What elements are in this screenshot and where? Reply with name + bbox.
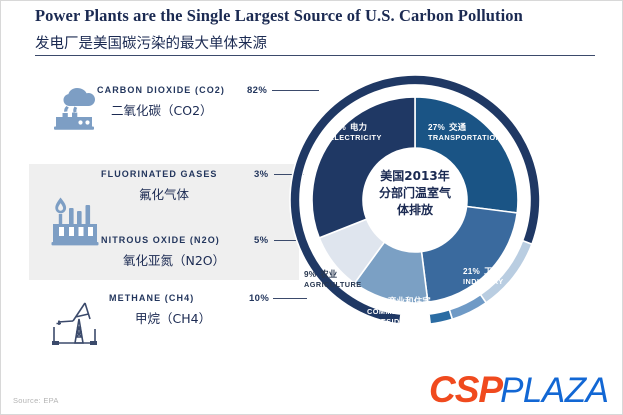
emissions-donut-chart: 31%电力 ELECTRICITY 27%交通 TRANSPORTATION 2… xyxy=(288,73,542,327)
gas-label-cn-co2: 二氧化碳（CO2） xyxy=(111,100,225,119)
gas-label-cn-ch4: 甲烷（CH4） xyxy=(135,308,211,327)
logo-plaza-text: PLAZA xyxy=(500,371,608,410)
gas-label-en-fgas: FLUORINATED GASES xyxy=(101,169,218,179)
gas-percent-fgas: 3% xyxy=(254,169,269,180)
center-line-2: 分部门温室气 xyxy=(360,185,470,202)
gas-ring-fluorinated-gases xyxy=(429,310,452,324)
gas-row-fluorinated: FLUORINATED GASES 氟化气体 xyxy=(101,169,218,203)
factory-smokestack-icon xyxy=(47,84,101,137)
gas-row-n2o: NITROUS OXIDE (N2O) 氧化亚氮（N2O） xyxy=(101,235,225,269)
gas-row-methane: METHANE (CH4) 甲烷（CH4） xyxy=(109,293,211,327)
page-title-cn: 发电厂是美国碳污染的最大单体来源 xyxy=(35,32,595,53)
oil-derrick-icon xyxy=(49,299,101,356)
center-line-3: 体排放 xyxy=(360,202,470,219)
gas-label-cn-n2o: 氧化亚氮（N2O） xyxy=(123,250,225,269)
infographic-canvas: Power Plants are the Single Largest Sour… xyxy=(0,0,623,415)
donut-center-text: 美国2013年 分部门温室气 体排放 xyxy=(360,168,470,219)
gas-percent-co2: 82% xyxy=(247,85,267,96)
gas-label-en-co2: CARBON DIOXIDE (CO2) xyxy=(97,85,225,95)
gas-row-co2: CARBON DIOXIDE (CO2) 二氧化碳（CO2） xyxy=(97,85,225,119)
gas-label-en-ch4: METHANE (CH4) xyxy=(109,293,211,303)
gas-label-en-n2o: NITROUS OXIDE (N2O) xyxy=(101,235,225,245)
source-note: Source: EPA xyxy=(13,396,59,405)
gas-ring-nitrous-oxide-n2o- xyxy=(449,295,486,320)
page-title-en: Power Plants are the Single Largest Sour… xyxy=(35,6,595,26)
csp-plaza-logo: CSPPLAZA xyxy=(429,369,608,411)
industrial-plant-icon xyxy=(49,194,105,255)
gas-label-cn-fgas: 氟化气体 xyxy=(139,184,218,203)
center-line-1: 美国2013年 xyxy=(360,168,470,185)
logo-csp-text: CSP xyxy=(429,369,502,410)
header: Power Plants are the Single Largest Sour… xyxy=(1,1,623,63)
gas-percent-n2o: 5% xyxy=(254,235,269,246)
header-divider xyxy=(35,55,595,56)
gas-percent-ch4: 10% xyxy=(249,293,269,304)
